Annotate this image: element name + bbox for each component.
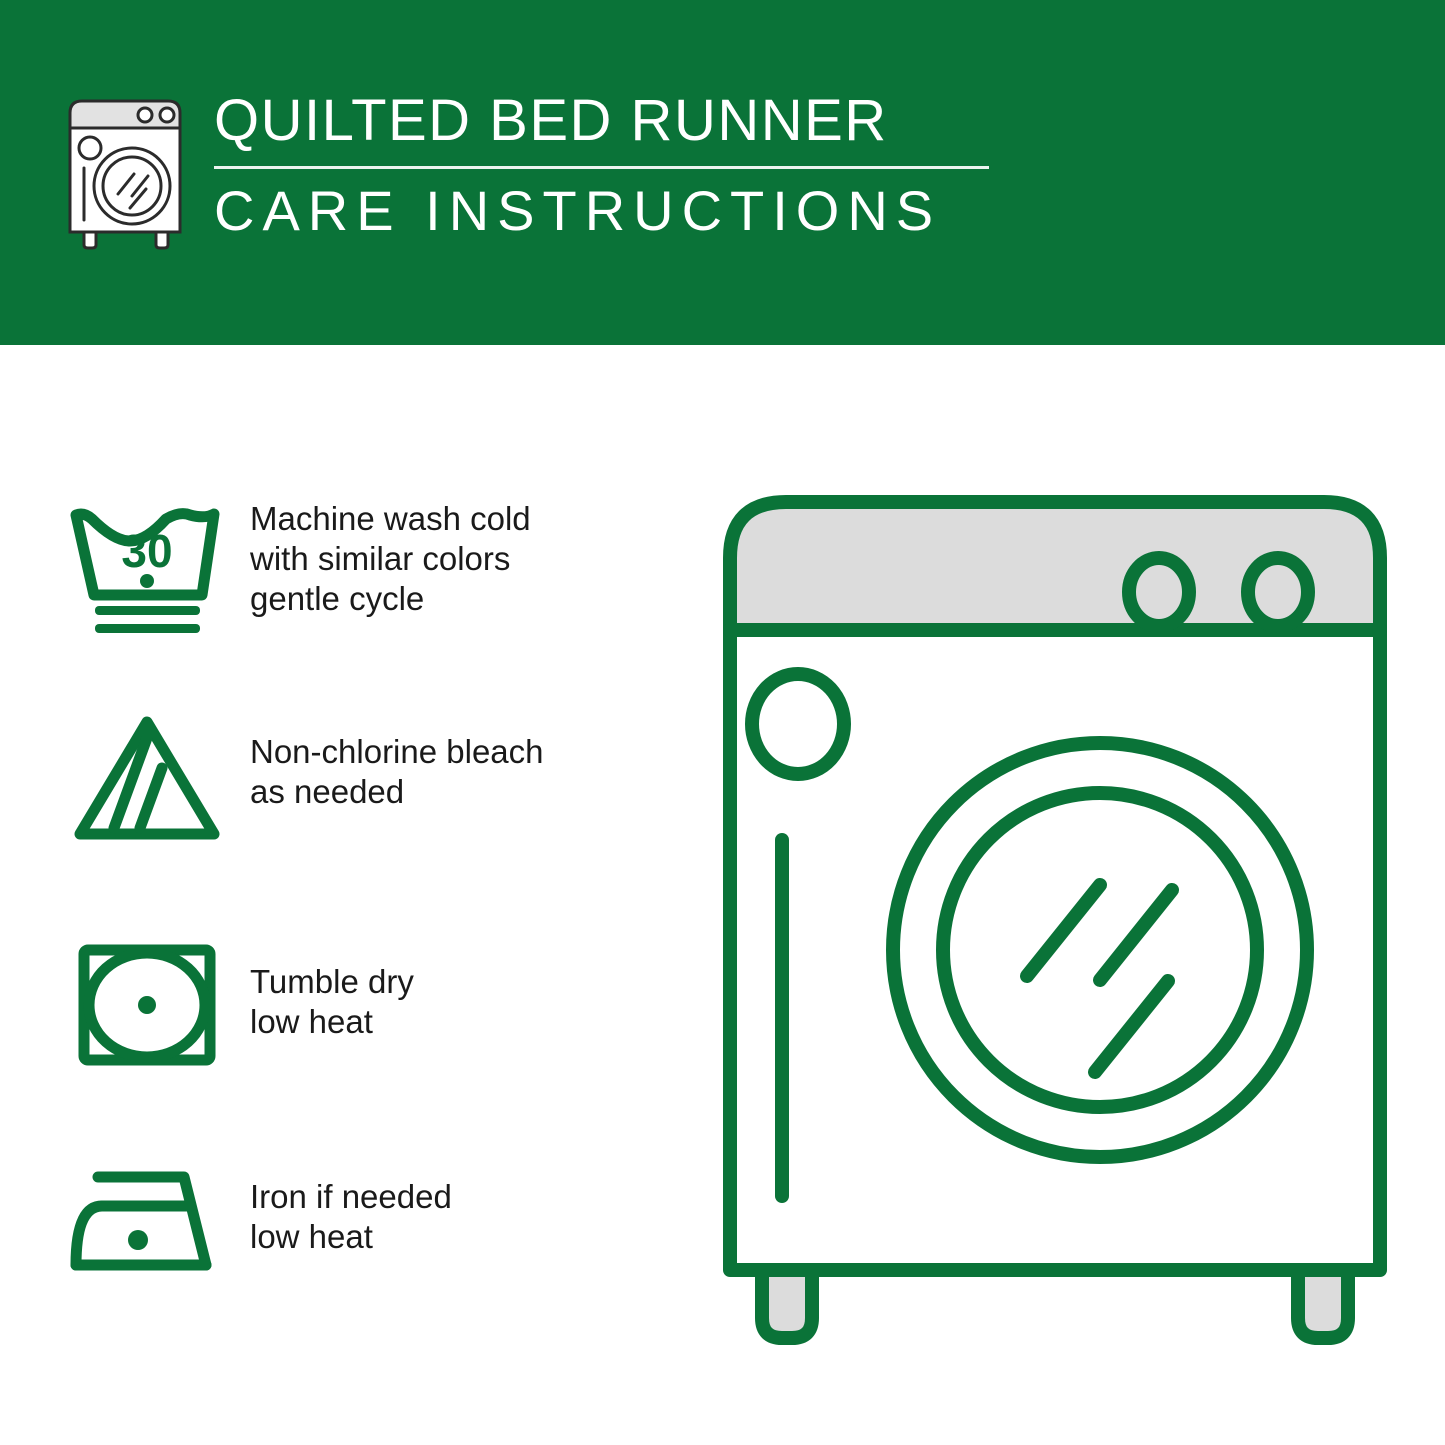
care-instructions-page: QUILTED BED RUNNER CARE INSTRUCTIONS [0, 0, 1445, 1445]
header-banner: QUILTED BED RUNNER CARE INSTRUCTIONS [0, 0, 1445, 345]
washing-machine-icon [62, 96, 192, 251]
title-divider [214, 166, 989, 169]
care-text-bleach: Non-chlorine bleach as needed [232, 700, 642, 812]
care-row-tumble-dry: Tumble dry low heat [62, 920, 642, 1090]
page-title: QUILTED BED RUNNER [210, 88, 1050, 154]
washing-machine-illustration [700, 460, 1420, 1380]
care-row-bleach: Non-chlorine bleach as needed [62, 700, 642, 870]
wash-tub-30-gentle-icon: 30 [62, 485, 232, 655]
header-titles: QUILTED BED RUNNER CARE INSTRUCTIONS [210, 88, 1050, 243]
page-subtitle: CARE INSTRUCTIONS [210, 179, 1050, 243]
care-row-wash: 30 Machine wash cold with similar colors… [62, 485, 642, 655]
care-text-iron: Iron if needed low heat [232, 1135, 642, 1257]
non-chlorine-bleach-triangle-icon [62, 700, 232, 870]
iron-low-heat-icon [62, 1135, 232, 1305]
tumble-dry-low-heat-icon [62, 920, 232, 1090]
care-row-iron: Iron if needed low heat [62, 1135, 642, 1305]
care-text-tumble-dry: Tumble dry low heat [232, 920, 642, 1042]
care-text-wash: Machine wash cold with similar colors ge… [232, 485, 642, 619]
svg-text:30: 30 [121, 525, 172, 577]
header-content: QUILTED BED RUNNER CARE INSTRUCTIONS [62, 88, 1002, 268]
care-instruction-list: 30 Machine wash cold with similar colors… [0, 345, 660, 1445]
